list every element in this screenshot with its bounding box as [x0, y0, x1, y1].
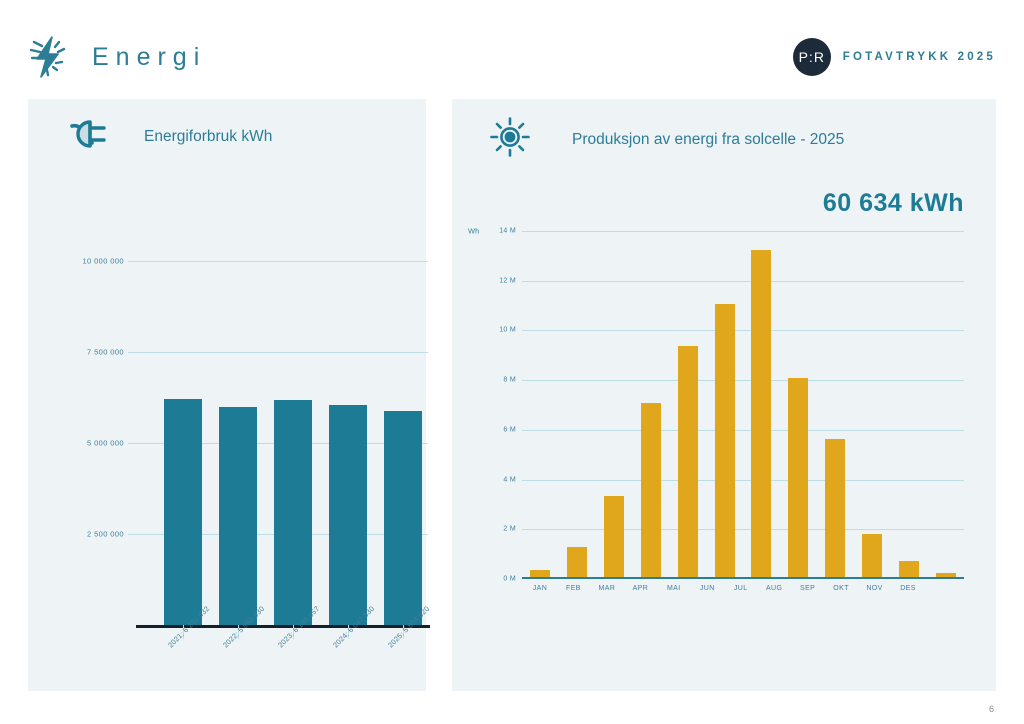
right-panel-header: Produksjon av energi fra solcelle - 2025: [452, 117, 996, 162]
right-chart-bar: [751, 250, 771, 577]
right-chart-bar: [567, 547, 587, 577]
right-chart-x-label: JUL: [731, 585, 751, 601]
left-chart-plot-area: 2 500 0005 000 0007 500 00010 000 000: [128, 225, 428, 625]
page-title: Energi: [92, 43, 206, 72]
slide-header: Energi P:R FOTAVTRYKK 2025: [0, 0, 1024, 96]
panel-energy-consumption: Energiforbruk kWh 2 500 0005 000 0007 50…: [28, 99, 426, 691]
left-chart-y-label: 7 500 000: [87, 348, 124, 357]
left-chart-x-label-slot: 2023: 6 198 657: [274, 633, 312, 703]
header-brand-right: P:R FOTAVTRYKK 2025: [793, 38, 996, 76]
right-chart-y-label: 8 M: [503, 377, 516, 384]
right-chart-y-label: 10 M: [499, 327, 516, 334]
power-plug-icon: [66, 117, 110, 156]
right-chart-x-labels: JANFEBMARAPRMAIJUNJULAUGSEPOKTNOVDES: [530, 585, 918, 601]
left-chart-y-label: 10 000 000: [82, 257, 124, 266]
right-chart-y-label: 12 M: [499, 277, 516, 284]
lightning-bolt-icon: [26, 34, 70, 80]
right-chart-x-label: NOV: [865, 585, 885, 601]
right-chart-bar: [715, 304, 735, 577]
right-chart-bar: [604, 496, 624, 577]
right-chart-x-label: DES: [898, 585, 918, 601]
brand-text: FOTAVTRYKK 2025: [843, 51, 996, 63]
right-chart-bar: [825, 439, 845, 577]
left-chart-y-label: 2 500 000: [87, 530, 124, 539]
right-chart-bars: [530, 231, 956, 577]
right-chart-bar: [862, 534, 882, 578]
right-chart-bar: [788, 378, 808, 577]
slide-page: Energi P:R FOTAVTRYKK 2025 Energiforbruk…: [0, 0, 1024, 724]
panel-solar-production: Produksjon av energi fra solcelle - 2025…: [452, 99, 996, 691]
left-chart-y-label: 5 000 000: [87, 439, 124, 448]
left-panel-title: Energiforbruk kWh: [144, 128, 272, 146]
right-chart-plot-area: 0 M2 M4 M6 M8 M10 M12 M14 M: [522, 231, 964, 579]
header-brand-left: Energi: [26, 34, 206, 80]
right-chart-y-label: 4 M: [503, 476, 516, 483]
right-chart-unit-label: Wh: [468, 227, 479, 236]
right-chart-bar: [899, 561, 919, 577]
right-chart-x-label: SEP: [798, 585, 818, 601]
left-chart-x-label-slot: 2025: 5 894 620: [384, 633, 422, 703]
left-chart-x-label-slot: 2024: 6 047 530: [329, 633, 367, 703]
pr-logo-mark: P:R: [793, 38, 831, 76]
right-chart-bar: [678, 346, 698, 577]
right-chart-x-label: MAI: [664, 585, 684, 601]
left-chart-bar: [274, 400, 312, 625]
sun-icon: [490, 117, 530, 162]
chart-energy-consumption: 2 500 0005 000 0007 500 00010 000 000 20…: [28, 195, 426, 691]
right-chart-x-label: JUN: [697, 585, 717, 601]
left-chart-bar: [329, 405, 367, 625]
left-panel-header: Energiforbruk kWh: [28, 117, 426, 156]
left-chart-x-label-slot: 2022: 5 982 930: [219, 633, 257, 703]
right-chart-bar: [641, 403, 661, 577]
left-chart-bar: [219, 407, 257, 625]
page-number: 6: [989, 704, 994, 714]
left-chart-x-labels: 2021: 6 210 4322022: 5 982 9302023: 6 19…: [164, 633, 422, 703]
left-chart-bar: [384, 411, 422, 625]
right-chart-y-label: 14 M: [499, 228, 516, 235]
right-chart-x-label: OKT: [831, 585, 851, 601]
right-panel-title: Produksjon av energi fra solcelle - 2025: [572, 131, 844, 149]
right-chart-x-label: JAN: [530, 585, 550, 601]
chart-solar-production: 60 634 kWh Wh 0 M2 M4 M6 M8 M10 M12 M14 …: [452, 159, 996, 691]
right-chart-x-label: FEB: [563, 585, 583, 601]
right-chart-x-label: AUG: [764, 585, 784, 601]
right-chart-y-label: 6 M: [503, 426, 516, 433]
right-chart-x-label: APR: [630, 585, 650, 601]
left-chart-bars: [164, 225, 422, 625]
right-chart-y-label: 2 M: [503, 526, 516, 533]
right-chart-x-label: MAR: [597, 585, 617, 601]
left-chart-bar: [164, 399, 202, 625]
right-chart-y-label: 0 M: [503, 576, 516, 583]
right-chart-bar: [530, 570, 550, 577]
left-chart-x-label-slot: 2021: 6 210 432: [164, 633, 202, 703]
solar-total-value: 60 634 kWh: [823, 189, 964, 218]
right-chart-bar: [936, 573, 956, 577]
